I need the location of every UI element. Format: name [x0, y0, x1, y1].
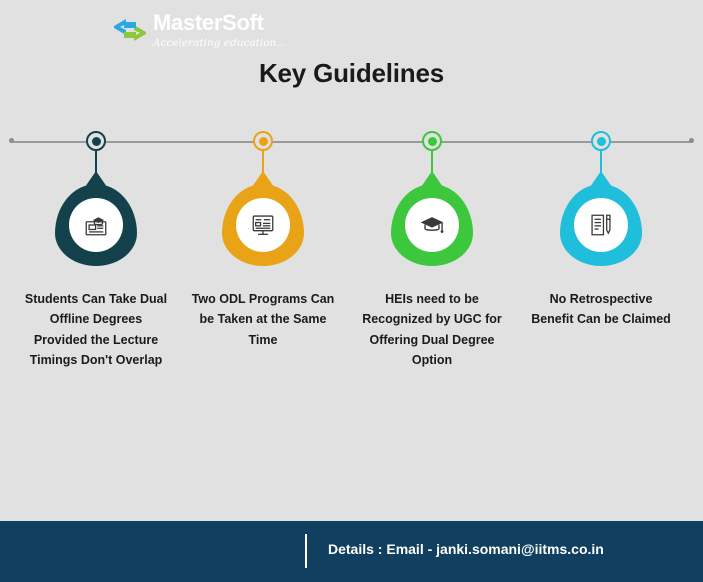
footer-divider: [305, 534, 307, 568]
mastersoft-logo-tagline: Accelerating education...: [153, 37, 286, 49]
timeline-marker-1: [86, 131, 106, 151]
pin-icon-circle-1: [69, 198, 123, 252]
timeline-pin-4[interactable]: [560, 184, 642, 266]
timeline-caption-4: No Retrospective Benefit Can be Claimed: [513, 289, 689, 330]
timeline-caption-3: HEIs need to be Recognized by UGC for Of…: [344, 289, 520, 370]
pin-icon-circle-2: [236, 198, 290, 252]
graduation-cap-icon: [418, 211, 446, 239]
pin-icon-circle-3: [405, 198, 459, 252]
mastersoft-logo-mark-icon: [113, 16, 147, 51]
page-title: Key Guidelines: [0, 58, 703, 89]
timeline-axis-right-cap: [689, 138, 694, 143]
footer-contact-detail: Details : Email - janki.somani@iitms.co.…: [328, 541, 604, 557]
timeline-marker-3: [422, 131, 442, 151]
timeline-pin-3[interactable]: [391, 184, 473, 266]
pin-icon-circle-4: [574, 198, 628, 252]
mastersoft-logo-name: MasterSoft: [153, 12, 286, 34]
desktop-monitor-icon: [250, 212, 276, 238]
timeline-pin-2[interactable]: [222, 184, 304, 266]
certificate-graduation-icon: [83, 212, 109, 238]
timeline-axis-left-cap: [9, 138, 14, 143]
timeline-marker-2: [253, 131, 273, 151]
timeline-caption-2: Two ODL Programs Can be Taken at the Sam…: [175, 289, 351, 350]
timeline-caption-1: Students Can Take Dual Offline Degrees P…: [8, 289, 184, 370]
mastersoft-logo[interactable]: MasterSoft Accelerating education...: [113, 12, 286, 51]
document-pen-icon: [588, 212, 614, 238]
timeline-pin-1[interactable]: [55, 184, 137, 266]
infographic-canvas: Key Guidelines: [0, 0, 703, 582]
timeline-marker-4: [591, 131, 611, 151]
